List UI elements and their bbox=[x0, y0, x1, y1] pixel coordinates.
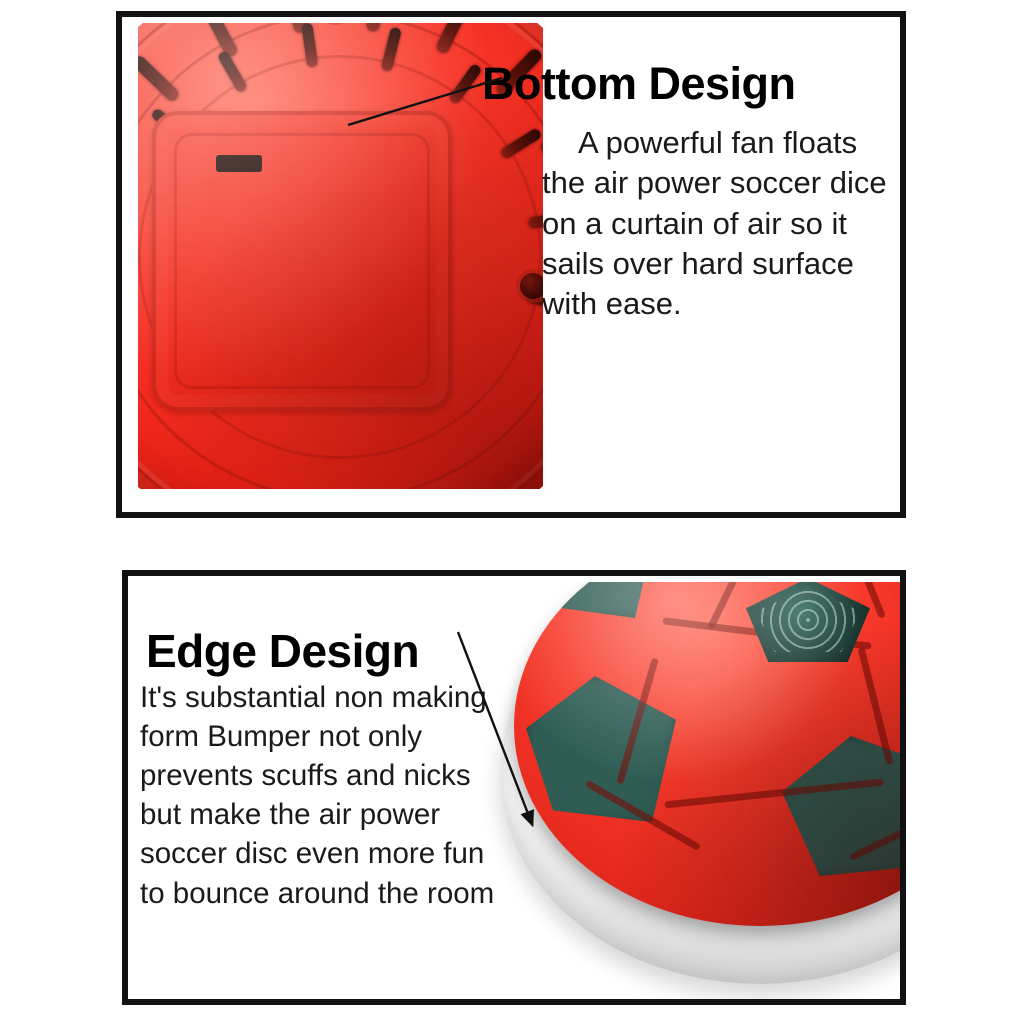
edge-design-product-photo bbox=[468, 582, 900, 999]
bottom-design-heading: Bottom Design bbox=[482, 61, 796, 106]
battery-hatch bbox=[152, 111, 452, 411]
ball-facet-dark bbox=[526, 676, 676, 822]
battery-hatch-inner-bevel bbox=[174, 133, 430, 389]
soccer-hover-disc-illustration bbox=[500, 582, 900, 999]
fan-hub-web-icon bbox=[756, 588, 860, 652]
bottom-design-description: A powerful fan floats the air power socc… bbox=[542, 123, 892, 324]
panel-edge-design: Edge Design It's substantial non making … bbox=[122, 570, 906, 1005]
edge-design-heading: Edge Design bbox=[146, 628, 419, 674]
ball-facet-dark bbox=[782, 736, 900, 876]
fan-hub-grille bbox=[746, 582, 870, 662]
ball-seam bbox=[707, 582, 747, 630]
ball-facet-dark bbox=[514, 582, 656, 618]
panel-bottom-design: Bottom Design A powerful fan floats the … bbox=[116, 11, 906, 518]
screw-icon bbox=[520, 273, 543, 299]
battery-hatch-slot-icon bbox=[216, 155, 262, 172]
edge-design-description: It's substantial non making form Bumper … bbox=[140, 678, 510, 913]
